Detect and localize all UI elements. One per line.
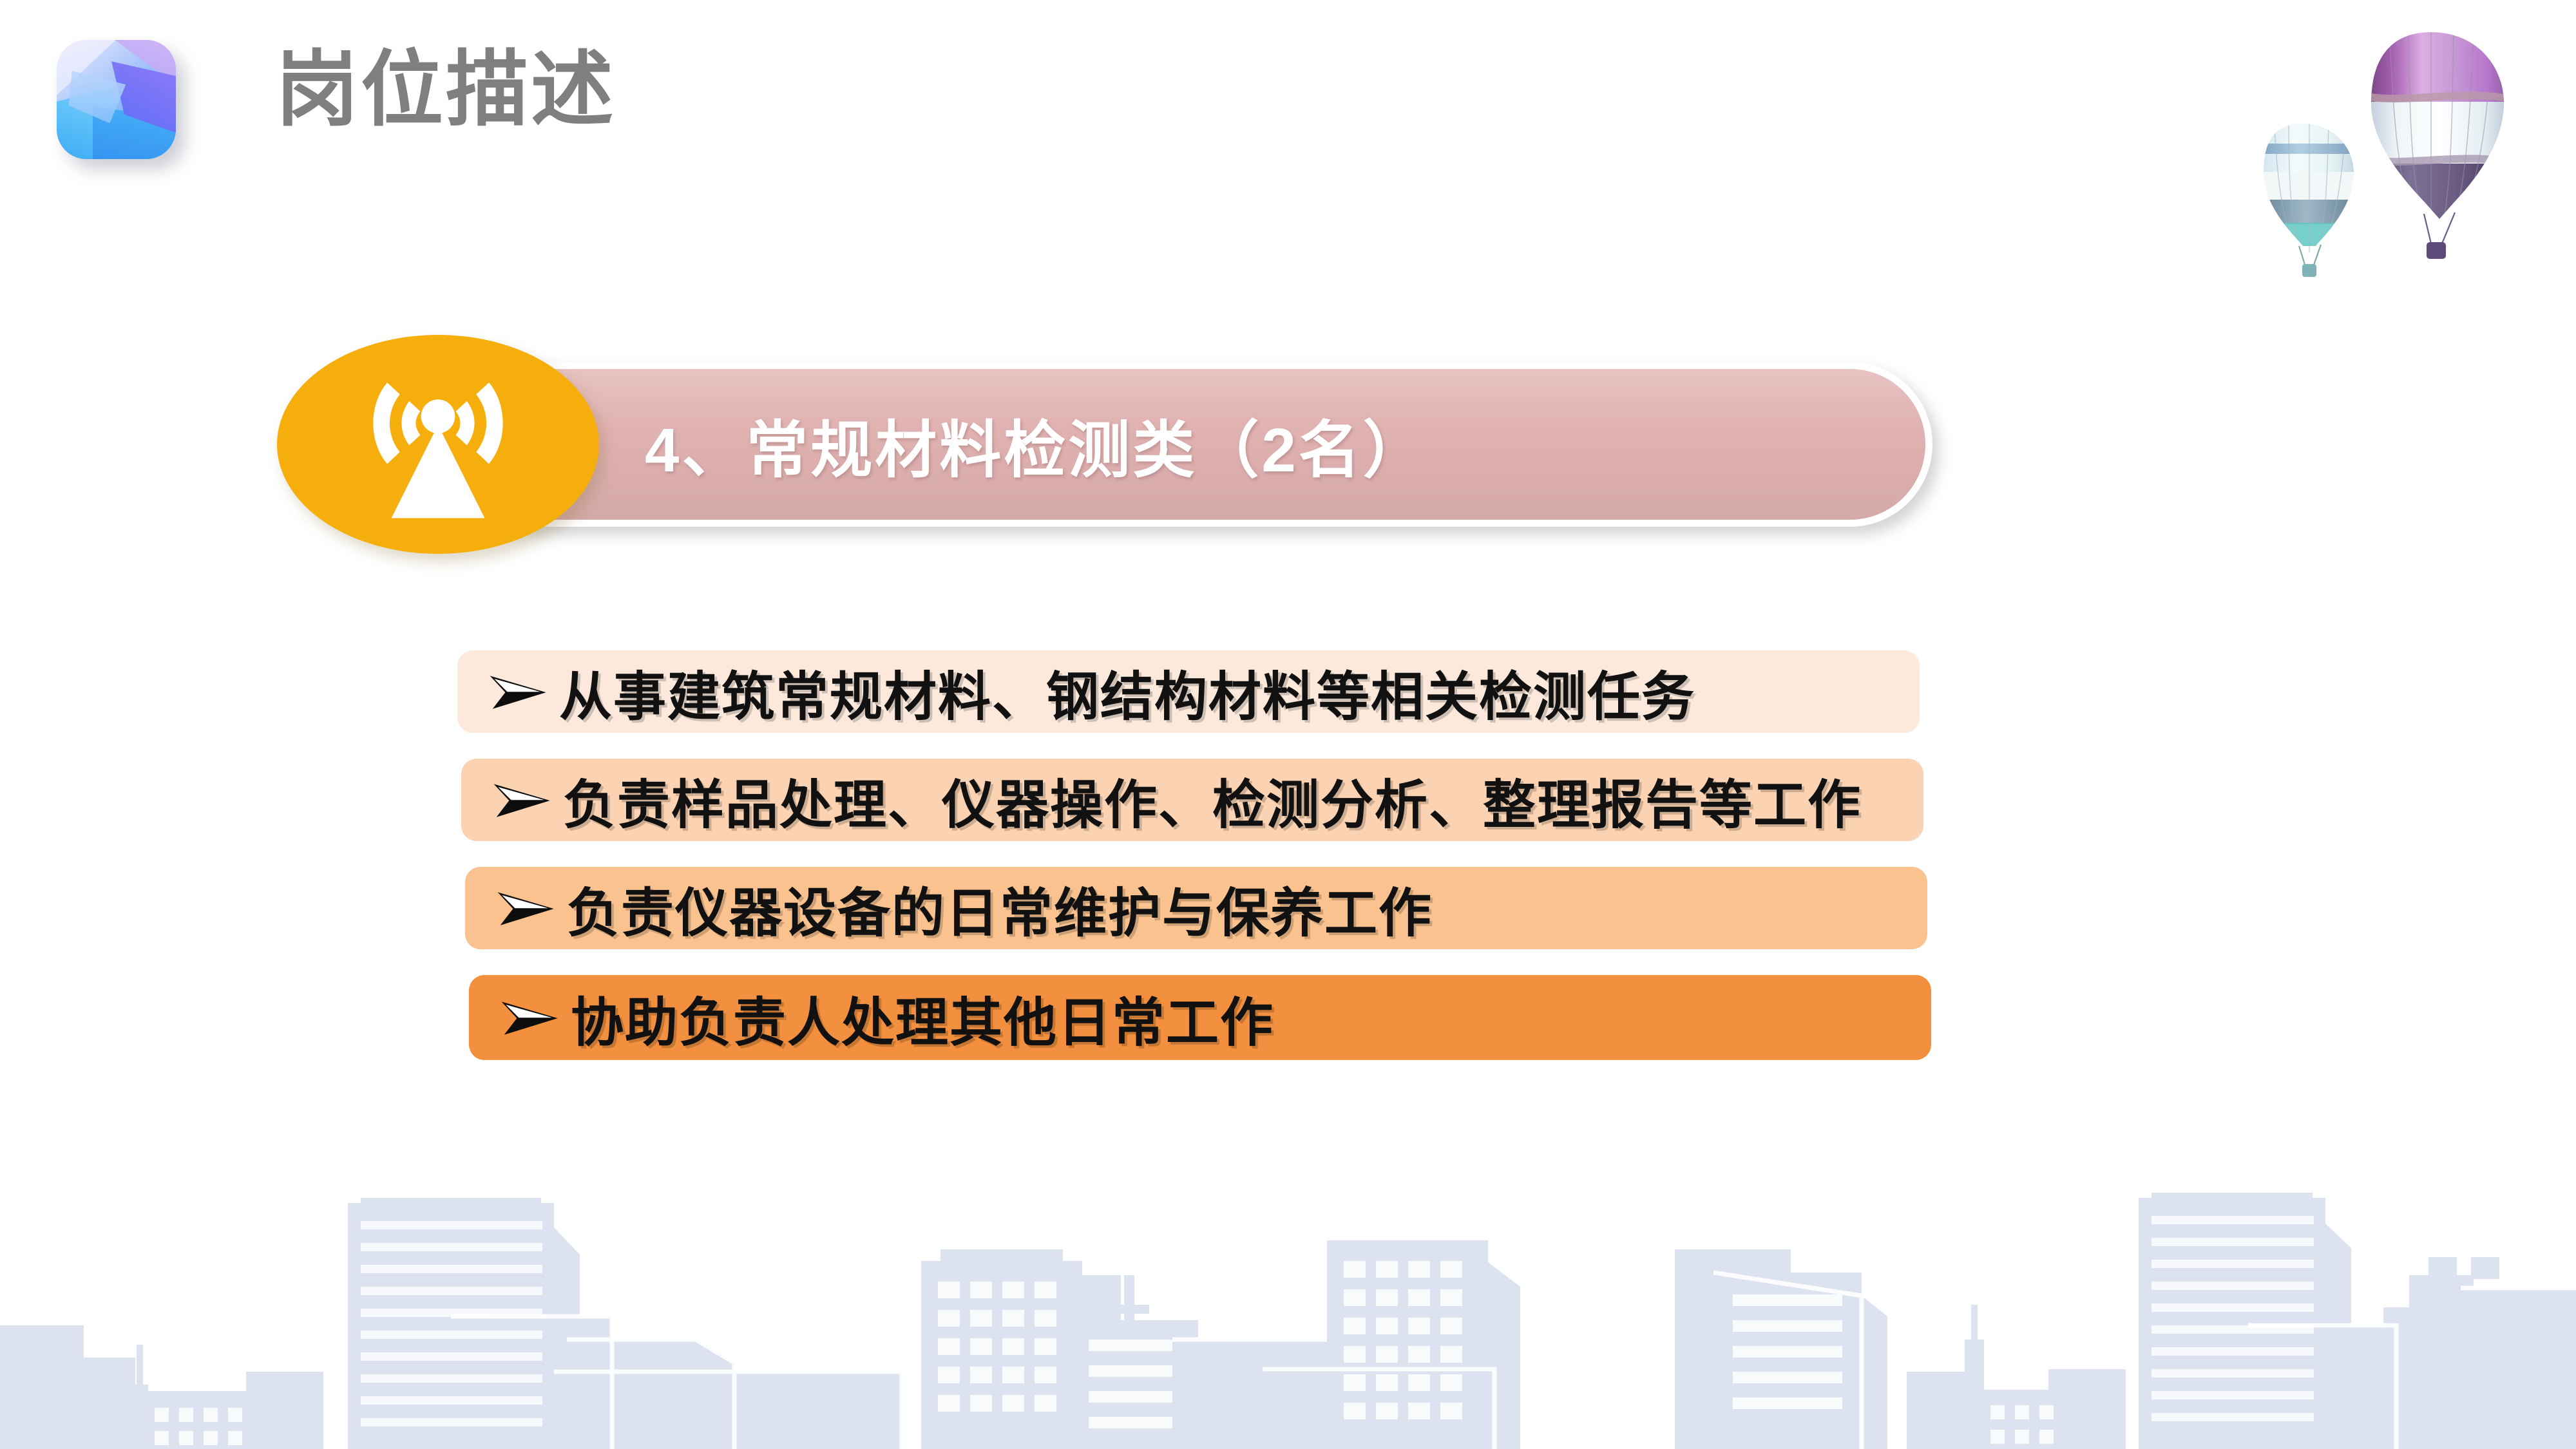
arrow-bullet-icon xyxy=(500,997,559,1038)
bullet-text: 从事建筑常规材料、钢结构材料等相关检测任务 xyxy=(559,654,1695,730)
arrow-bullet-icon xyxy=(488,671,548,712)
bullet-text: 负责样品处理、仪器操作、检测分析、整理报告等工作 xyxy=(563,762,1862,838)
section-banner-label: 4、常规材料检测类（2名） xyxy=(645,400,1427,489)
cityscape-decoration xyxy=(0,1179,2576,1449)
balloon-small-ropes xyxy=(2299,245,2321,267)
balloon-large xyxy=(2363,26,2519,231)
balloon-small-basket xyxy=(2302,264,2316,277)
balloon-large-basket xyxy=(2427,242,2446,259)
bullet-text: 负责仪器设备的日常维护与保养工作 xyxy=(567,870,1433,947)
broadcast-tower-icon xyxy=(351,364,525,525)
balloon-small xyxy=(2259,119,2362,252)
bullet-text: 协助负责人处理其他日常工作 xyxy=(571,980,1274,1056)
hot-air-balloons-decoration xyxy=(2202,6,2537,277)
page-title: 岗位描述 xyxy=(276,49,616,131)
slide-root: 岗位描述 xyxy=(0,0,2576,1449)
section-banner-pill[interactable]: 4、常规材料检测类（2名） xyxy=(444,362,1932,527)
bullet-row[interactable]: 协助负责人处理其他日常工作 xyxy=(469,975,1931,1060)
arrow-bullet-icon xyxy=(496,887,555,929)
bullet-list: 从事建筑常规材料、钢结构材料等相关检测任务 负责样品处理、仪器操作、检测分析、整… xyxy=(0,650,2576,1086)
slide-header: 岗位描述 xyxy=(0,0,2576,161)
section-banner: 4、常规材料检测类（2名） xyxy=(277,335,1932,554)
app-gradient-icon xyxy=(57,40,176,159)
bullet-row[interactable]: 负责样品处理、仪器操作、检测分析、整理报告等工作 xyxy=(461,759,1923,841)
bullet-row[interactable]: 负责仪器设备的日常维护与保养工作 xyxy=(465,867,1927,949)
arrow-bullet-icon xyxy=(492,779,551,820)
section-badge[interactable] xyxy=(277,335,599,554)
bullet-row[interactable]: 从事建筑常规材料、钢结构材料等相关检测任务 xyxy=(457,650,1920,733)
